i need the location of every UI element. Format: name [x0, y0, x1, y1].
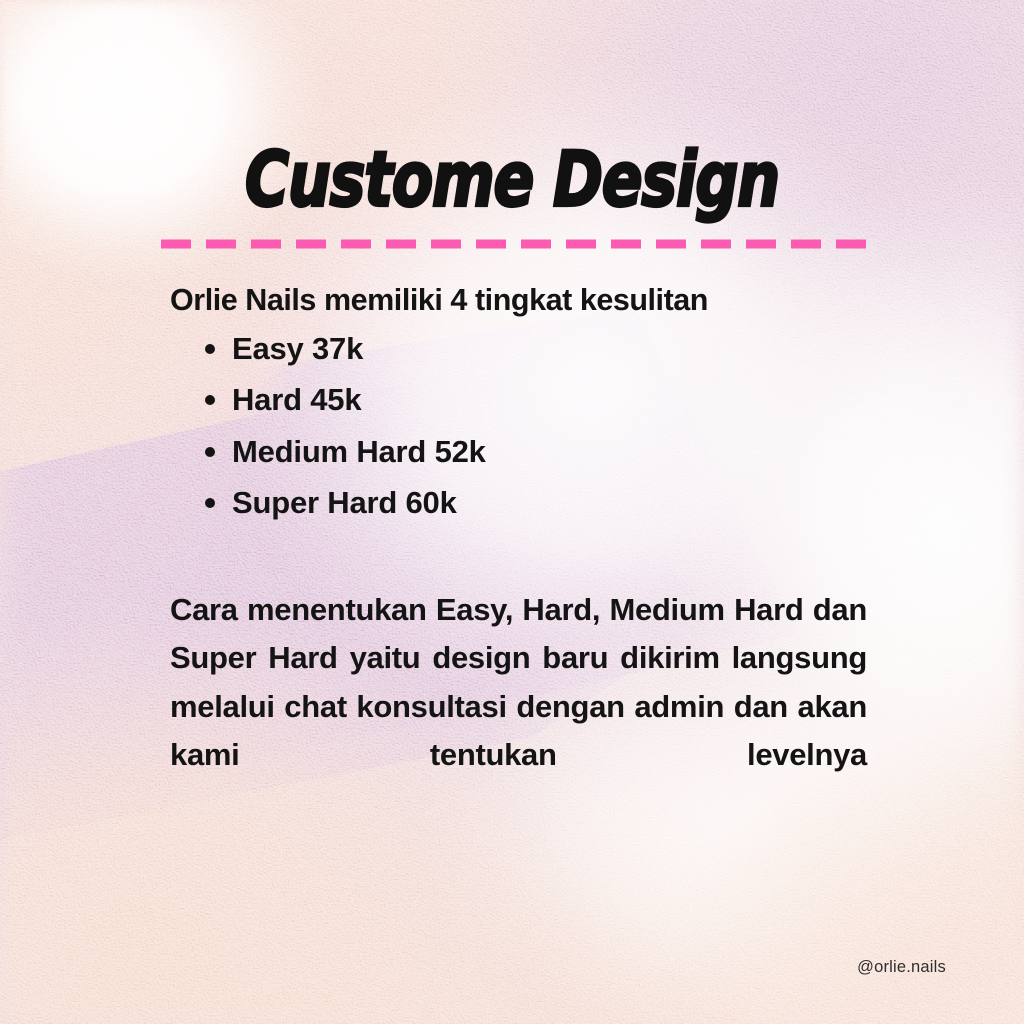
- account-watermark: @orlie.nails: [857, 958, 946, 977]
- list-item: Super Hard 60k: [205, 477, 867, 528]
- description-paragraph: Cara menentukan Easy, Hard, Medium Hard …: [170, 586, 867, 828]
- tier-lead-text: Orlie Nails memiliki 4 tingkat kesulitan: [170, 283, 867, 319]
- post-content: Custome Design Orlie Nails memiliki 4 ti…: [0, 0, 1024, 1024]
- tier-section: Orlie Nails memiliki 4 tingkat kesulitan…: [170, 283, 867, 529]
- instagram-post-canvas: Custome Design Orlie Nails memiliki 4 ti…: [0, 0, 1024, 1024]
- dashed-divider-icon: [158, 239, 870, 249]
- list-item: Easy 37k: [205, 323, 867, 374]
- tier-list: Easy 37k Hard 45k Medium Hard 52k Super …: [170, 323, 867, 529]
- page-title: Custome Design: [15, 142, 1008, 218]
- list-item: Hard 45k: [205, 374, 867, 425]
- list-item: Medium Hard 52k: [205, 426, 867, 477]
